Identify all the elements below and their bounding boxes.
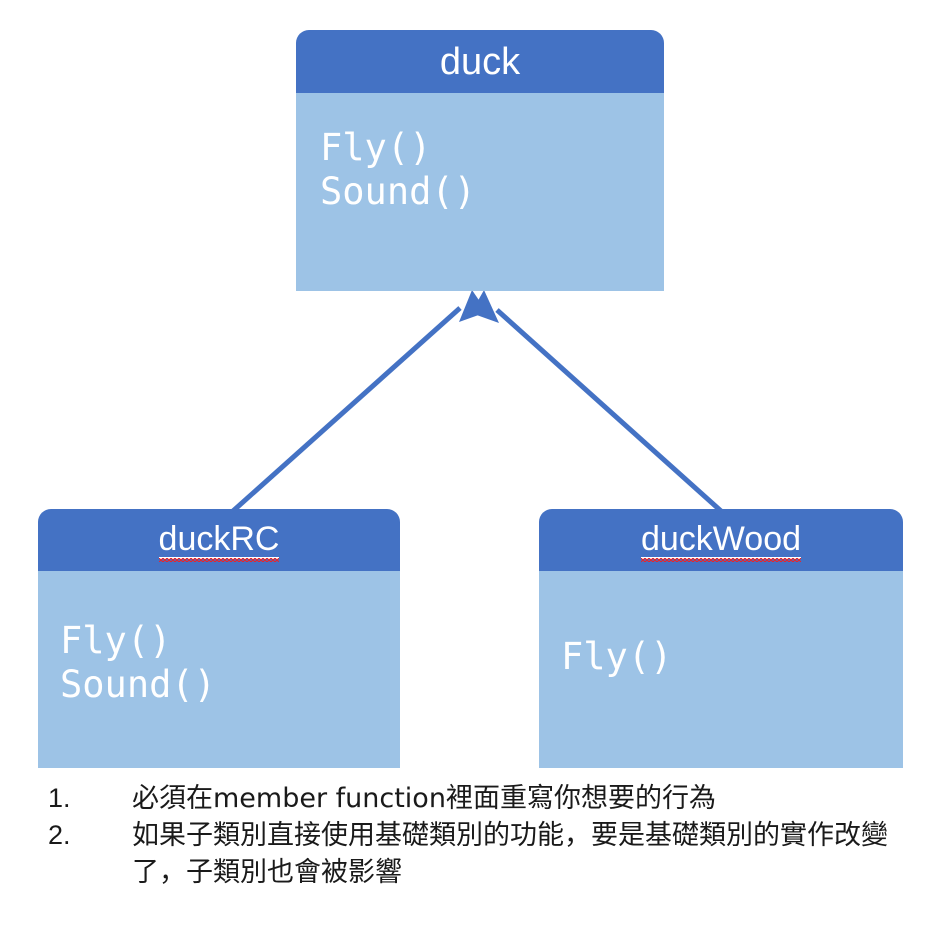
method-duckwood-0: Fly() <box>561 635 903 679</box>
class-title-duckrc: duckRC <box>159 522 280 556</box>
class-header-duckwood: duckWood <box>539 509 903 571</box>
class-header-duckrc: duckRC <box>38 509 400 571</box>
uml-class-diagram: duck Fly() Sound() duckRC Fly() Sound() … <box>0 0 939 940</box>
spellcheck-squiggle-duckrc: duckRC <box>159 522 280 559</box>
list-item: 2. 如果子類別直接使用基礎類別的功能，要是基礎類別的實作改變了，子類別也會被影… <box>48 817 928 891</box>
class-title-duckwood: duckWood <box>641 522 801 556</box>
notes-list: 1. 必須在member function裡面重寫你想要的行為 2. 如果子類別… <box>48 780 928 891</box>
method-duck-1: Sound() <box>320 170 664 214</box>
class-body-duck: Fly() Sound() <box>296 93 664 291</box>
method-duck-0: Fly() <box>320 126 664 170</box>
class-header-duck: duck <box>296 30 664 93</box>
method-duckrc-0: Fly() <box>60 619 400 663</box>
class-body-duckrc: Fly() Sound() <box>38 571 400 768</box>
class-box-duckrc[interactable]: duckRC Fly() Sound() <box>38 509 400 768</box>
spellcheck-squiggle-duckwood: duckWood <box>641 522 801 559</box>
class-title-duck: duck <box>440 43 520 81</box>
inheritance-arrow-duckrc-to-duck <box>233 290 487 511</box>
note-marker-2: 2. <box>48 817 132 854</box>
class-box-duck[interactable]: duck Fly() Sound() <box>296 30 664 291</box>
note-text-1: 必須在member function裡面重寫你想要的行為 <box>132 780 928 817</box>
note-marker-1: 1. <box>48 780 132 817</box>
inheritance-arrow-duckwood-to-duck <box>471 290 721 511</box>
class-body-duckwood: Fly() <box>539 571 903 768</box>
class-box-duckwood[interactable]: duckWood Fly() <box>539 509 903 768</box>
list-item: 1. 必須在member function裡面重寫你想要的行為 <box>48 780 928 817</box>
note-text-2: 如果子類別直接使用基礎類別的功能，要是基礎類別的實作改變了，子類別也會被影響 <box>132 817 928 891</box>
method-duckrc-1: Sound() <box>60 663 400 707</box>
